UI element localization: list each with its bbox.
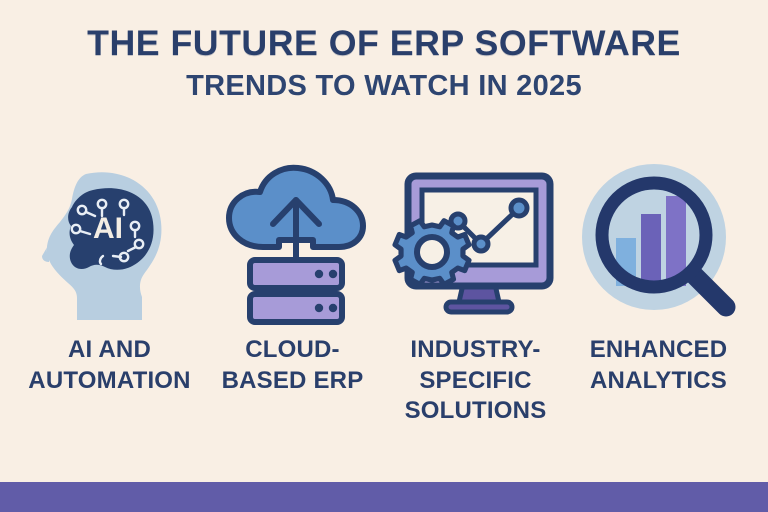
monitor-chart-gear-icon [386,152,566,327]
header: THE FUTURE OF ERP SOFTWARE TRENDS TO WAT… [0,0,768,101]
trend-columns: AI [0,152,768,427]
footer-accent-bar [0,482,768,512]
infographic-canvas: THE FUTURE OF ERP SOFTWARE TRENDS TO WAT… [0,0,768,512]
trend-label-cloud-erp: CLOUD- BASED ERP [222,335,364,396]
trend-label-industry-solutions: INDUSTRY- SPECIFIC SOLUTIONS [405,335,547,427]
trend-column-cloud-erp[interactable]: CLOUD- BASED ERP [201,152,384,396]
page-title: THE FUTURE OF ERP SOFTWARE [0,26,768,63]
trend-column-ai-automation[interactable]: AI [18,152,201,396]
cloud-upload-server-icon [203,152,383,327]
trend-label-enhanced-analytics: ENHANCED ANALYTICS [590,335,728,396]
magnifier-bar-chart-icon [569,152,749,327]
page-subtitle: TRENDS TO WATCH IN 2025 [0,71,768,101]
svg-text:AI: AI [93,212,123,245]
trend-column-enhanced-analytics[interactable]: ENHANCED ANALYTICS [567,152,750,396]
trend-label-ai-automation: AI AND AUTOMATION [28,335,190,396]
trend-column-industry-solutions[interactable]: INDUSTRY- SPECIFIC SOLUTIONS [384,152,567,427]
ai-brain-head-icon: AI [20,152,200,327]
